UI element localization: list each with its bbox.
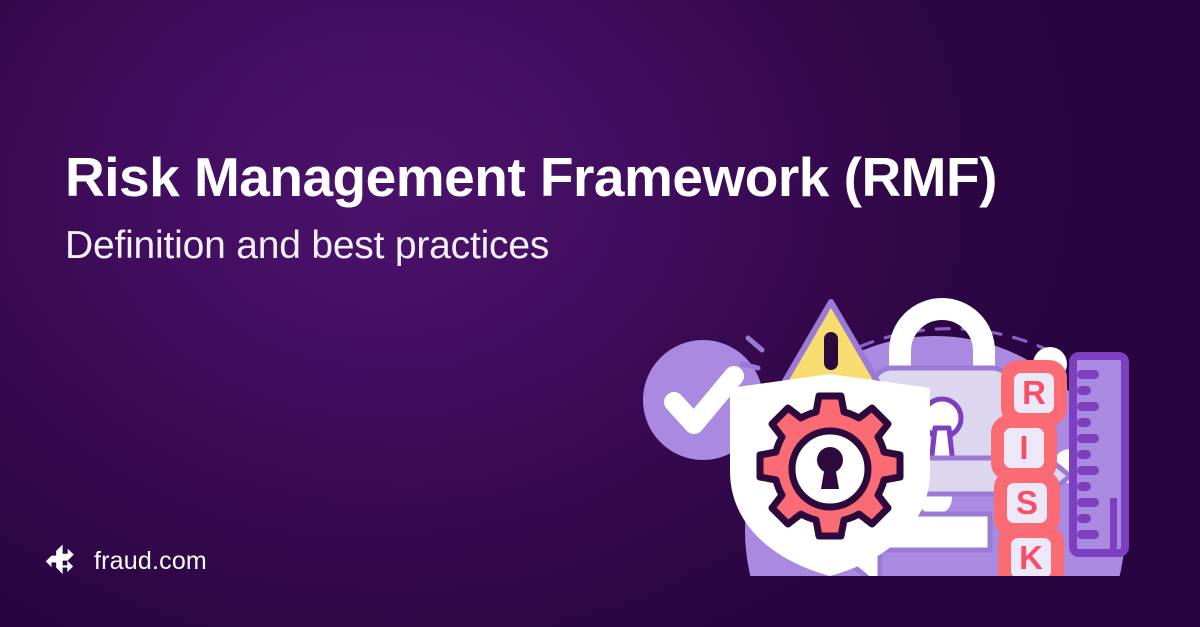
svg-text:K: K [1019,539,1043,576]
gear-icon [760,396,900,536]
logo-wordmark: fraud.com [94,547,207,576]
headline-group: Risk Management Framework (RMF) Definiti… [65,148,997,268]
svg-text:I: I [1019,429,1028,466]
risk-block-S: S [998,474,1056,532]
risk-block-I: I [995,419,1053,477]
measuring-ruler [1073,356,1125,553]
brand-logo[interactable]: fraud.com [45,543,207,579]
risk-blocks: R I S K [995,364,1063,576]
svg-text:S: S [1016,484,1038,521]
svg-text:R: R [1022,374,1046,411]
banner-canvas: Risk Management Framework (RMF) Definiti… [0,0,1200,627]
page-title: Risk Management Framework (RMF) [65,148,997,207]
page-subtitle: Definition and best practices [65,225,997,268]
fraud-com-logo-mark [45,543,81,579]
risk-block-R: R [1005,364,1063,422]
risk-management-illustration: R I S K [630,276,1150,576]
risk-block-K: K [1002,529,1060,576]
